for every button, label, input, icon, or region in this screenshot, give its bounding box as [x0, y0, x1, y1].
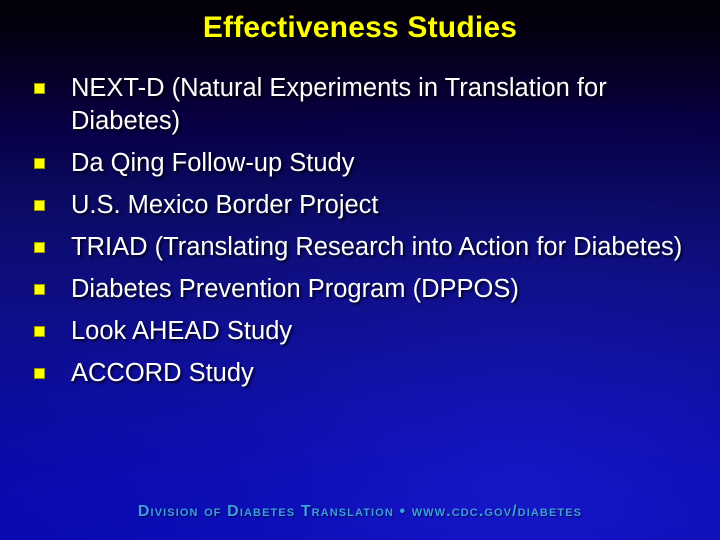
list-item: Diabetes Prevention Program (DPPOS) — [34, 273, 690, 306]
list-item: U.S. Mexico Border Project — [34, 189, 690, 222]
list-item: ACCORD Study — [34, 357, 690, 390]
list-item-label: Diabetes Prevention Program (DPPOS) — [71, 273, 690, 306]
list-item: TRIAD (Translating Research into Action … — [34, 231, 690, 264]
list-item: Da Qing Follow-up Study — [34, 147, 690, 180]
slide-footer: Division of Diabetes Translation • www.c… — [0, 494, 720, 540]
square-bullet-icon — [34, 326, 45, 337]
list-item-label: Da Qing Follow-up Study — [71, 147, 690, 180]
square-bullet-icon — [34, 368, 45, 379]
list-item-label: TRIAD (Translating Research into Action … — [71, 231, 690, 264]
footer-attribution-label: Division of Diabetes Translation • www.c… — [0, 503, 720, 521]
list-item-label: U.S. Mexico Border Project — [71, 189, 690, 222]
list-item-label: ACCORD Study — [71, 357, 690, 390]
list-item: NEXT-D (Natural Experiments in Translati… — [34, 72, 690, 138]
list-item-label: NEXT-D (Natural Experiments in Translati… — [71, 72, 690, 138]
list-item-label: Look AHEAD Study — [71, 315, 690, 348]
square-bullet-icon — [34, 83, 45, 94]
slide-title: Effectiveness Studies — [0, 10, 720, 46]
bullet-list: NEXT-D (Natural Experiments in Translati… — [34, 72, 690, 399]
square-bullet-icon — [34, 242, 45, 253]
square-bullet-icon — [34, 200, 45, 211]
square-bullet-icon — [34, 284, 45, 295]
presentation-slide: Effectiveness Studies NEXT-D (Natural Ex… — [0, 0, 720, 540]
slide-content: Effectiveness Studies NEXT-D (Natural Ex… — [0, 0, 720, 540]
square-bullet-icon — [34, 158, 45, 169]
list-item: Look AHEAD Study — [34, 315, 690, 348]
